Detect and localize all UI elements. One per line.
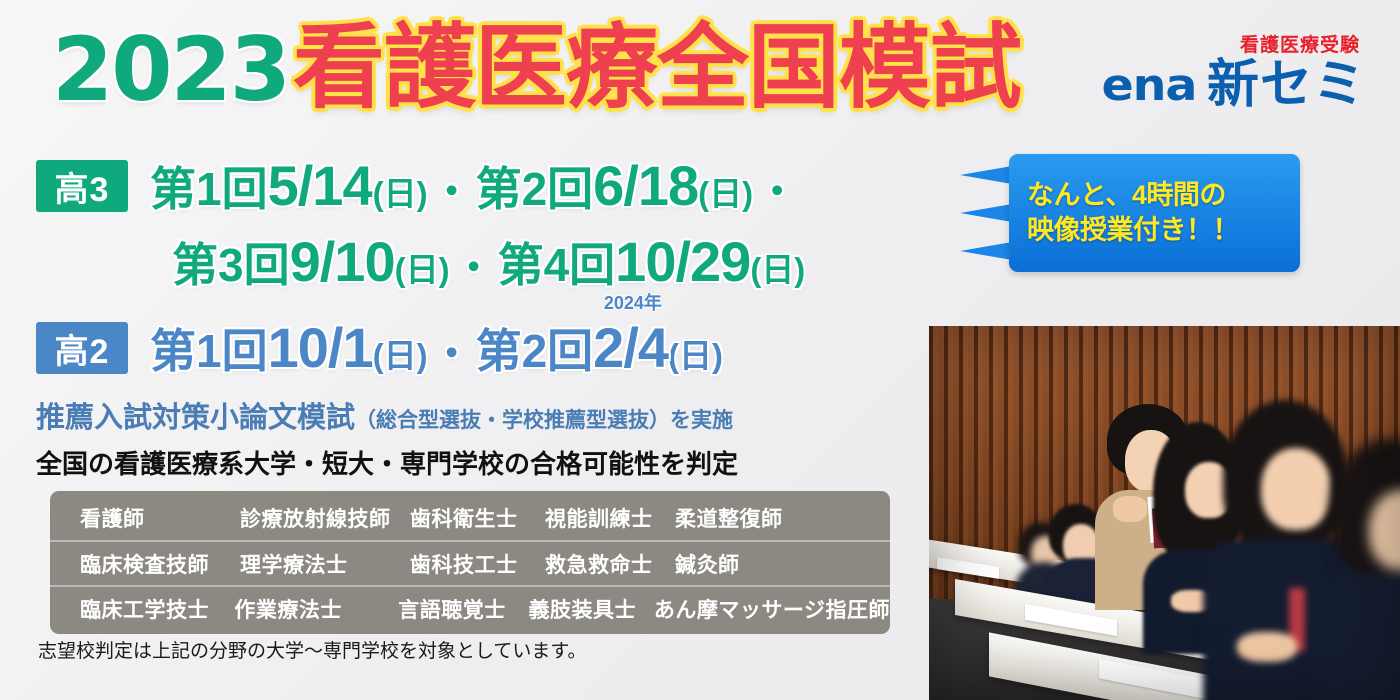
separator-3: ・	[450, 246, 498, 290]
exam1-day: (日)	[373, 175, 428, 212]
exam-promotion-banner: 2023 看護医療全国模試 看護医療受験 ena 新セミ 高3 第1回5/14(…	[0, 0, 1400, 700]
callout-line-1: なんと、4時間の	[1027, 178, 1300, 213]
callout-arrows	[960, 160, 1015, 268]
logo-tagline: 看護医療受験	[1105, 30, 1360, 57]
essay-exam-detail: （総合型選抜・学校推薦型選抜）を実施	[355, 409, 733, 432]
profession-cell: 義肢装具士	[529, 594, 654, 624]
profession-cell: 理学療法士	[240, 549, 410, 579]
logo-shinsemi-wordmark: 新セミ	[1207, 59, 1366, 111]
photo-vignette	[929, 326, 1400, 700]
profession-cell: 言語聴覚士	[398, 594, 528, 624]
profession-cell: 鍼灸師	[675, 549, 740, 579]
profession-cell: 臨床検査技師	[80, 549, 240, 579]
students-exam-photo	[929, 326, 1400, 700]
exam6-year-note: 2024年	[604, 289, 662, 315]
grade-badge-ko2: 高2	[36, 322, 128, 374]
exam5-date: 10/1	[268, 316, 373, 379]
profession-cell: 柔道整復師	[675, 503, 783, 533]
schedule-row-grade2: 高2 第1回10/1(日)・第2回2024年2/4(日)	[36, 310, 996, 386]
table-row: 臨床工学技士 作業療法士 言語聴覚士 義肢装具士 あん摩マッサージ指圧師	[50, 585, 890, 630]
schedule-row-grade3-line1: 高3 第1回5/14(日)・第2回6/18(日)・	[36, 148, 996, 224]
profession-cell: 視能訓練士	[545, 503, 675, 533]
grade-badge-ko3: 高3	[36, 160, 128, 212]
title-main: 看護医療全国模試	[293, 26, 1021, 111]
schedule-line-1: 第1回5/14(日)・第2回6/18(日)・	[150, 153, 801, 219]
page-title: 2023 看護医療全国模試	[52, 26, 1021, 111]
footnote: 志望校判定は上記の分野の大学〜専門学校を対象としています。	[38, 636, 587, 663]
professions-table: 看護師 診療放射線技師 歯科衛生士 視能訓練士 柔道整復師 臨床検査技師 理学療…	[50, 491, 890, 634]
exam5-label: 第1回	[150, 325, 268, 377]
exam4-day: (日)	[750, 251, 805, 288]
exam2-label: 第2回	[476, 163, 594, 215]
exam2-day: (日)	[698, 175, 753, 212]
title-year: 2023	[52, 30, 289, 111]
exam3-date: 9/10	[290, 230, 395, 293]
video-lesson-callout: なんと、4時間の 映像授業付き！！	[1009, 154, 1300, 272]
schedule-line-2: 第3回9/10(日)・第4回10/29(日)	[172, 229, 805, 295]
exam1-label: 第1回	[150, 163, 268, 215]
exam3-day: (日)	[395, 251, 450, 288]
profession-cell: 臨床工学技士	[80, 594, 234, 624]
exam6-date: 2/4	[593, 316, 668, 379]
exam3-label: 第3回	[172, 239, 290, 291]
essay-exam-strong: 推薦入試対策小論文模試	[36, 402, 355, 434]
separator-2: ・	[753, 170, 801, 214]
exam6-date-wrap: 2024年2/4	[593, 315, 668, 380]
separator-4: ・	[428, 332, 476, 376]
table-row: 看護師 診療放射線技師 歯科衛生士 視能訓練士 柔道整復師	[50, 495, 890, 540]
table-row: 臨床検査技師 理学療法士 歯科技工士 救急救命士 鍼灸師	[50, 540, 890, 585]
schedule-line-3: 第1回10/1(日)・第2回2024年2/4(日)	[150, 315, 723, 381]
exam2-date: 6/18	[593, 154, 698, 217]
exam6-label: 第2回	[476, 325, 594, 377]
logo-lockup: ena 新セミ	[1105, 59, 1366, 111]
profession-cell: 診療放射線技師	[240, 503, 410, 533]
schedule-row-grade3-line2: 第3回9/10(日)・第4回10/29(日)	[150, 224, 996, 300]
exam6-day: (日)	[668, 337, 723, 374]
callout-line-2: 映像授業付き！！	[1027, 213, 1300, 248]
logo-ena-wordmark: ena	[1102, 60, 1197, 111]
exam4-date: 10/29	[615, 230, 750, 293]
arrow-icon	[960, 166, 1012, 185]
arrow-icon	[960, 242, 1012, 261]
profession-cell: 歯科衛生士	[410, 503, 545, 533]
arrow-icon	[960, 204, 1012, 223]
brand-logo: 看護医療受験 ena 新セミ	[1105, 30, 1366, 111]
profession-cell: 看護師	[80, 503, 240, 533]
exam4-label: 第4回	[498, 239, 616, 291]
schedule-block: 高3 第1回5/14(日)・第2回6/18(日)・ 第3回9/10(日)・第4回…	[36, 148, 996, 386]
profession-cell: 作業療法士	[234, 594, 398, 624]
separator-1: ・	[428, 170, 476, 214]
exam5-day: (日)	[373, 337, 428, 374]
profession-cell: あん摩マッサージ指圧師	[654, 594, 890, 624]
nationwide-assessment-text: 全国の看護医療系大学・短大・専門学校の合格可能性を判定	[36, 444, 738, 481]
essay-exam-headline: 推薦入試対策小論文模試（総合型選抜・学校推薦型選抜）を実施	[36, 394, 733, 436]
profession-cell: 救急救命士	[545, 549, 675, 579]
profession-cell: 歯科技工士	[410, 549, 545, 579]
exam1-date: 5/14	[268, 154, 373, 217]
